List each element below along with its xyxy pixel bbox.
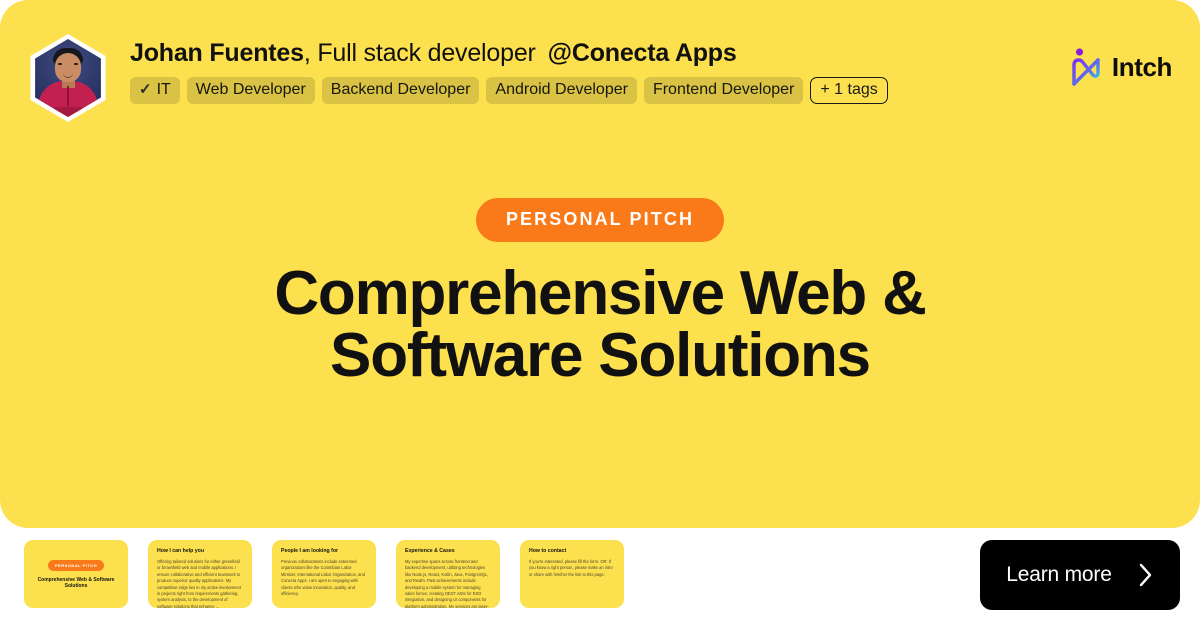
tag-label: Backend Developer — [331, 80, 471, 100]
mini-card-people-looking-for[interactable]: People I am looking for Previous collabo… — [272, 540, 376, 608]
profile-role-text: Full stack developer — [311, 39, 536, 67]
brand-logo[interactable]: Intch — [1070, 46, 1172, 88]
mini-card-heading: How to contact — [529, 548, 615, 555]
mini-card-how-to-contact[interactable]: How to contact If you're interested, ple… — [520, 540, 624, 608]
avatar-eye-right — [74, 63, 78, 65]
mini-card-heading: Experience & Cases — [405, 548, 491, 555]
mini-personal-pitch-badge: PERSONAL PITCH — [48, 560, 104, 571]
mini-card-experience-cases[interactable]: Experience & Cases My expertise spans ac… — [396, 540, 500, 608]
mini-card-strip: PERSONAL PITCH Comprehensive Web & Softw… — [24, 540, 624, 608]
mini-cover-title: Comprehensive Web & Software Solutions — [30, 577, 122, 589]
hero-center: PERSONAL PITCH Comprehensive Web & Softw… — [0, 198, 1200, 387]
avatar-zipper — [67, 86, 69, 106]
profile-name: Johan Fuentes — [130, 39, 304, 67]
profile-name-line: Johan Fuentes, Full stack developer@Cone… — [130, 38, 1050, 68]
tag-android-developer[interactable]: Android Developer — [486, 77, 637, 104]
chevron-right-icon — [1138, 562, 1154, 588]
tag-label: Web Developer — [196, 80, 306, 100]
mini-card-heading: How I can help you — [157, 548, 243, 555]
avatar-hex-frame — [28, 34, 108, 122]
mini-card-body: Offering tailored solutions for either g… — [157, 559, 243, 608]
brand-name: Intch — [1112, 52, 1172, 83]
mini-card-body: If you're interested, please fill the fo… — [529, 559, 615, 578]
hero-header: Johan Fuentes, Full stack developer@Cone… — [28, 32, 1172, 122]
hero-panel: Johan Fuentes, Full stack developer@Cone… — [0, 0, 1200, 528]
mini-card-cover[interactable]: PERSONAL PITCH Comprehensive Web & Softw… — [24, 540, 128, 608]
page-root: Johan Fuentes, Full stack developer@Cone… — [0, 0, 1200, 627]
tag-frontend-developer[interactable]: Frontend Developer — [644, 77, 803, 104]
tag-label: IT — [157, 80, 171, 100]
tag-web-developer[interactable]: Web Developer — [187, 77, 315, 104]
tag-more-button[interactable]: + 1 tags — [810, 77, 887, 104]
mini-card-heading: People I am looking for — [281, 548, 367, 555]
page-title: Comprehensive Web & Software Solutions — [150, 263, 1050, 387]
mini-card-body: My expertise spans across frontend and b… — [405, 559, 491, 608]
intch-n-logo-icon — [1070, 46, 1104, 88]
tag-label: Android Developer — [495, 80, 628, 100]
name-separator: , — [304, 39, 311, 67]
tag-it[interactable]: ✓IT — [130, 77, 180, 104]
profile-company[interactable]: @Conecta Apps — [548, 39, 737, 67]
avatar-eye-left — [58, 63, 62, 65]
tag-backend-developer[interactable]: Backend Developer — [322, 77, 480, 104]
avatar[interactable] — [28, 34, 108, 122]
profile-header-text: Johan Fuentes, Full stack developer@Cone… — [130, 32, 1050, 104]
tag-label: Frontend Developer — [653, 80, 794, 100]
avatar-arms — [51, 107, 85, 116]
profile-role: , Full stack developer — [304, 39, 536, 67]
learn-more-button[interactable]: Learn more — [980, 540, 1180, 610]
profile-tag-row: ✓IT Web Developer Backend Developer Andr… — [130, 77, 1050, 104]
check-icon: ✓ — [139, 80, 152, 100]
avatar-image — [33, 39, 103, 117]
mini-card-how-i-can-help[interactable]: How I can help you Offering tailored sol… — [148, 540, 252, 608]
learn-more-label: Learn more — [1006, 563, 1111, 587]
personal-pitch-badge: PERSONAL PITCH — [476, 198, 724, 242]
mini-card-body: Previous collaborations include esteemed… — [281, 559, 367, 597]
